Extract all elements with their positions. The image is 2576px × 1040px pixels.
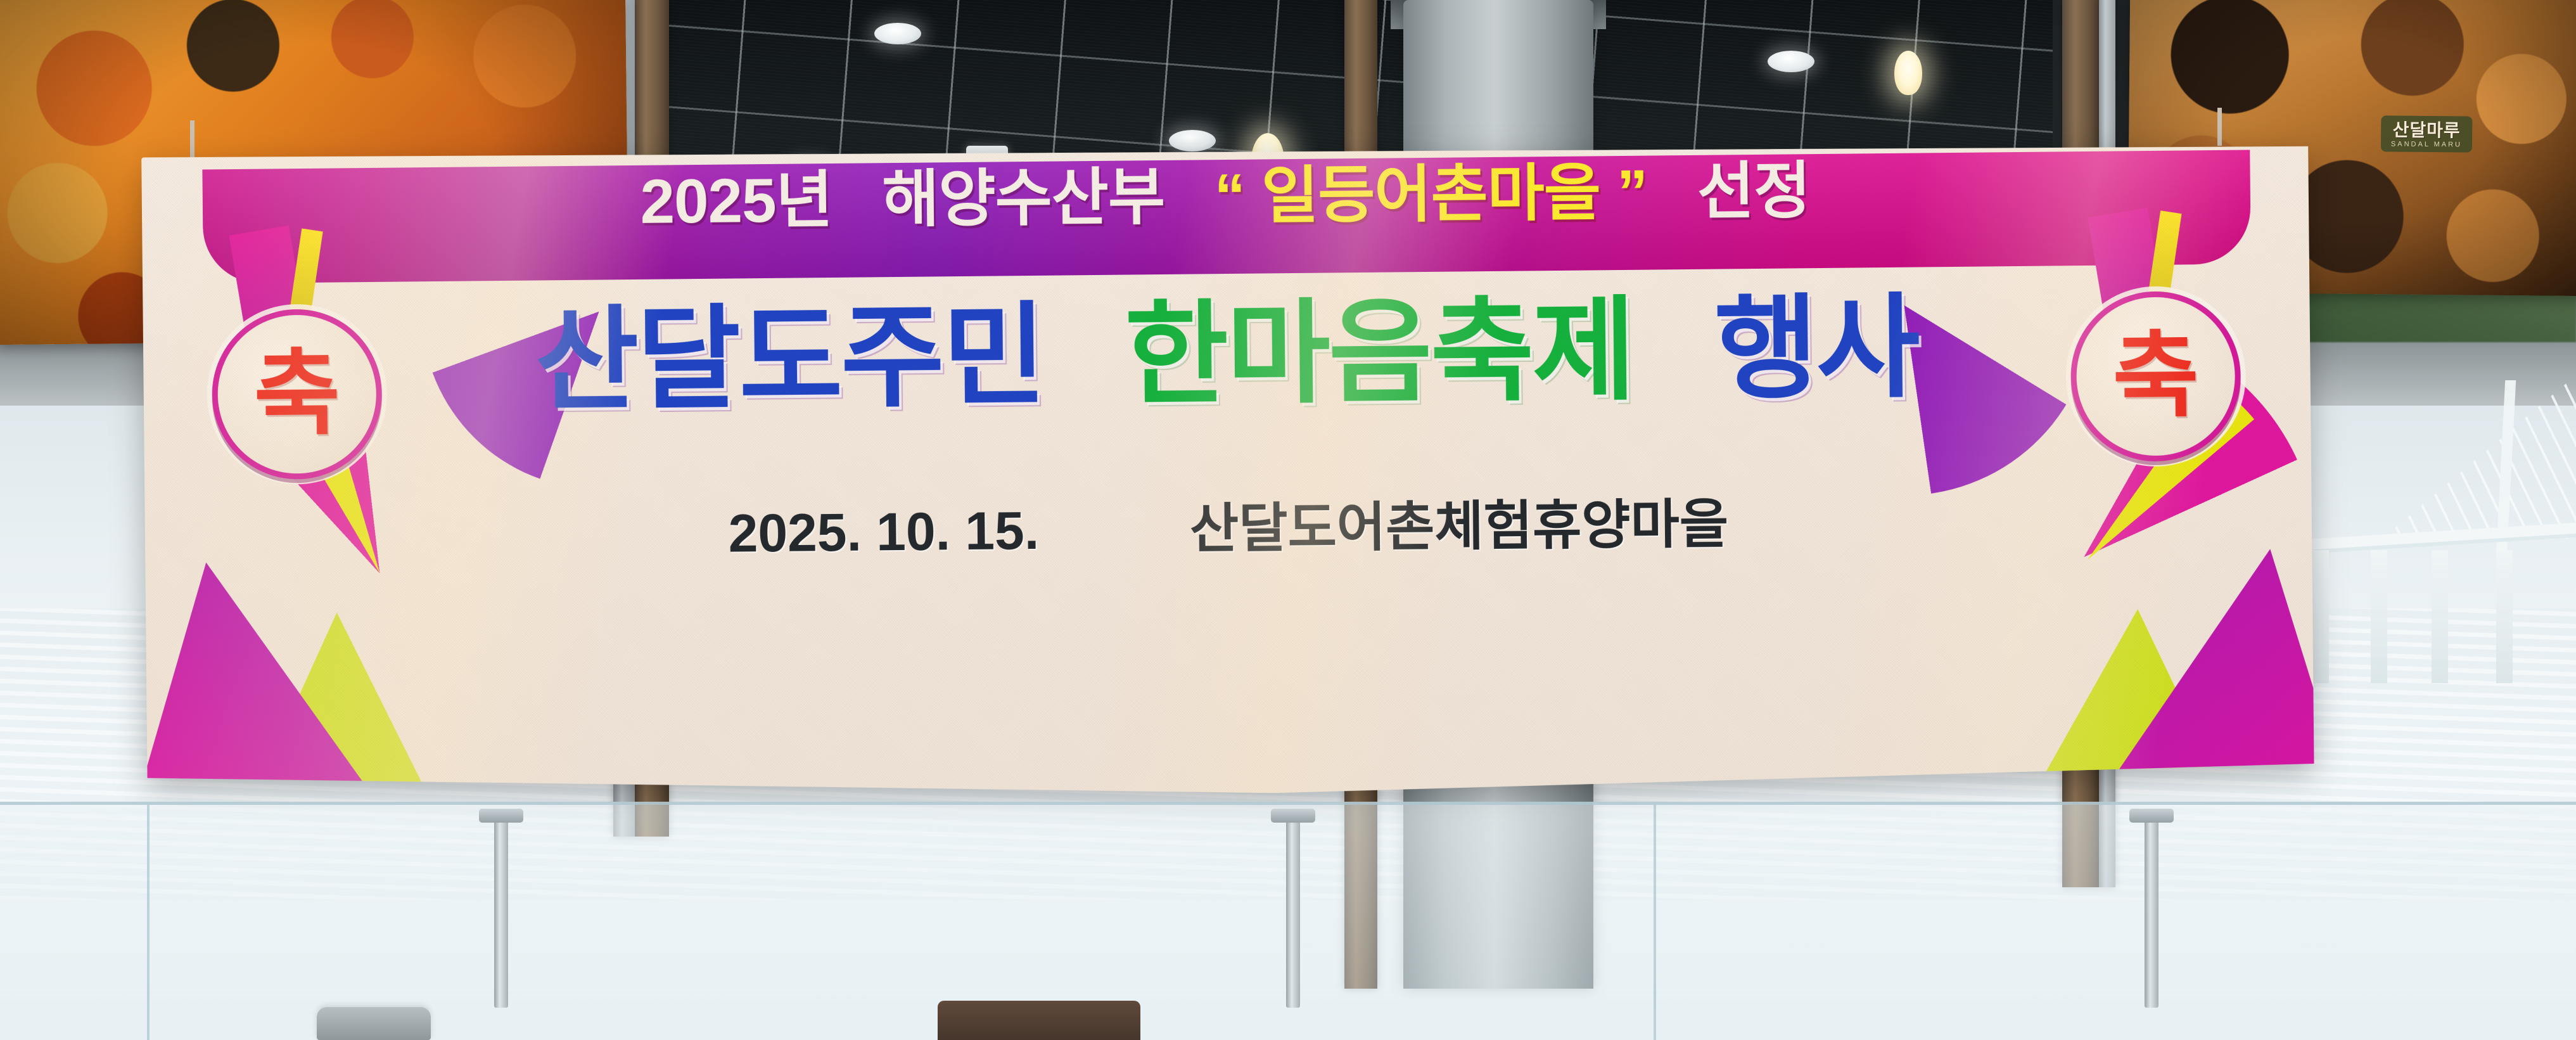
railing-post <box>1286 818 1300 1008</box>
downlight-icon <box>1768 51 1814 72</box>
downlight-icon <box>874 23 921 44</box>
bridge-pier <box>2432 550 2448 683</box>
festival-banner: 2025년 해양수산부 “ 일등어촌마을 ” 선정 산달도주민 한마음축제 행사 <box>141 137 2314 804</box>
banner-footer-row: 2025. 10. 15. 산달도어촌체험휴양마을 <box>145 492 2312 566</box>
table-top <box>938 1001 1140 1040</box>
banner-tie-rope <box>190 120 194 158</box>
bridge-cables <box>2382 380 2576 539</box>
railing-post <box>2145 818 2158 1008</box>
bridge-pier <box>2496 550 2513 683</box>
bridge-pier <box>2312 550 2329 683</box>
banner-date: 2025. 10. 15. <box>728 504 1039 560</box>
award-close-quote: ” <box>1617 157 1648 227</box>
award-ministry: 해양수산부 <box>882 162 1165 234</box>
photo-scene: 산달 정찬/마루 정찬 산달마루 SANDAL MARU <box>0 0 2576 1040</box>
award-title: 일등어촌마을 <box>1261 157 1601 230</box>
award-year: 2025년 <box>640 165 832 236</box>
cable-stayed-bridge <box>2287 380 2576 684</box>
sandal-maru-logo-kr: 산달마루 <box>2393 120 2461 140</box>
headline-part-residents: 산달도주민 <box>535 293 1045 424</box>
decor-swoosh-pink-right <box>2084 548 2314 804</box>
medallion-left-char: 축 <box>212 309 383 480</box>
bridge-pier <box>2371 550 2387 683</box>
headline-part-festival: 한마음축제 <box>1125 287 1635 418</box>
pendant-light-icon <box>1894 51 1922 95</box>
decor-swoosh-lime-right <box>1919 518 2252 804</box>
decor-swoosh-lime-left <box>221 527 554 804</box>
banner-organizer: 산달도어촌체험휴양마을 <box>1190 497 1729 555</box>
headline-part-event: 행사 <box>1714 285 1918 413</box>
sandal-maru-logo-en: SANDAL MARU <box>2391 141 2462 148</box>
award-selection: 선정 <box>1697 155 1810 226</box>
medallion-right: 축 <box>2070 291 2241 463</box>
decor-swoosh-pink-left <box>141 561 395 804</box>
chair-back <box>317 1007 431 1040</box>
railing-post <box>494 818 508 1008</box>
medallion-right-char: 축 <box>2070 291 2241 463</box>
medallion-left: 축 <box>212 309 383 480</box>
sandal-maru-logo: 산달마루 SANDAL MARU <box>2381 115 2473 152</box>
banner-headline: 산달도주민 한마음축제 행사 <box>143 288 2311 421</box>
award-open-quote: “ <box>1214 161 1245 231</box>
glass-panel-seam <box>147 805 150 1040</box>
banner-surface: 2025년 해양수산부 “ 일등어촌마을 ” 선정 산달도주민 한마음축제 행사 <box>141 137 2314 804</box>
glass-panel-seam <box>1654 805 1656 1040</box>
